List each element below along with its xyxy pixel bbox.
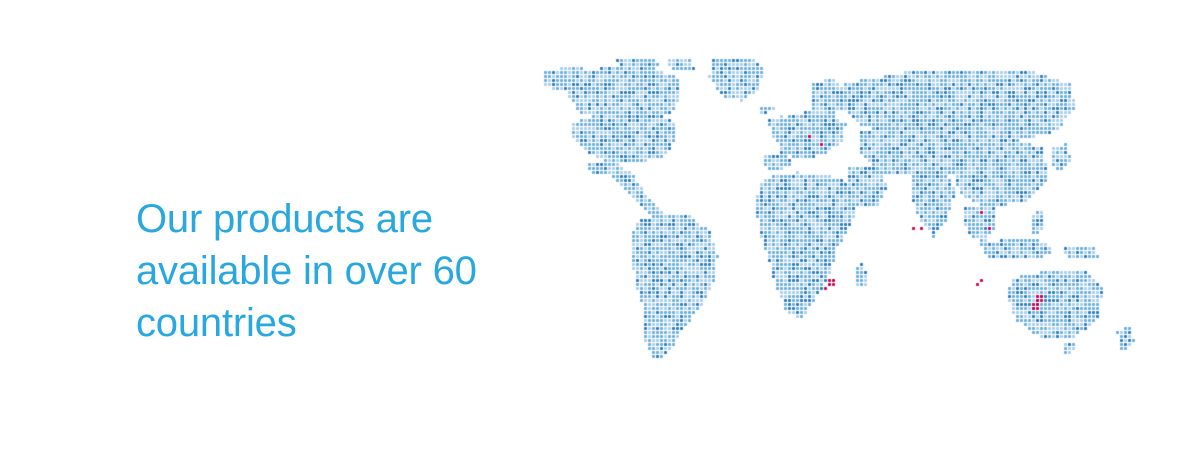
page-title: Our products are available in over 60 co… xyxy=(136,193,566,349)
dotted-world-map-canvas xyxy=(540,55,1140,365)
world-map xyxy=(540,55,1140,365)
global-availability-banner: Our products are available in over 60 co… xyxy=(0,0,1200,450)
